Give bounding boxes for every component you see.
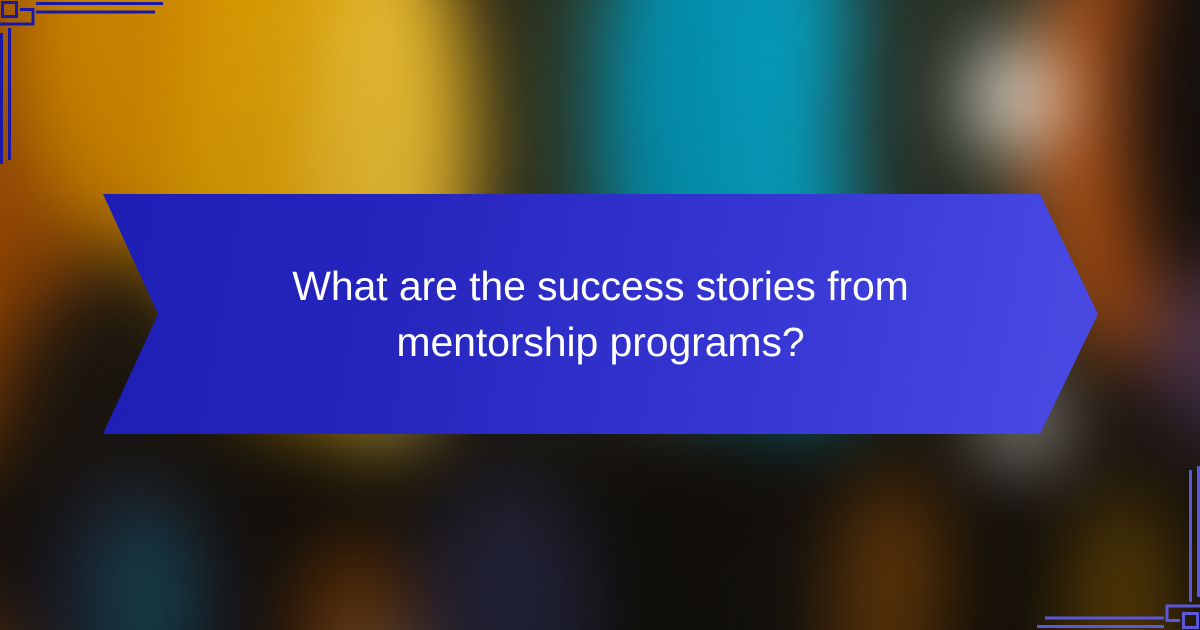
banner-canvas: What are the success stories from mentor…	[0, 0, 1200, 630]
banner-heading-line-1: What are the success stories from	[292, 258, 908, 314]
chevron-banner: What are the success stories from mentor…	[103, 194, 1098, 434]
banner-heading-line-2: mentorship programs?	[396, 314, 804, 370]
banner-heading: What are the success stories from mentor…	[158, 194, 1044, 434]
